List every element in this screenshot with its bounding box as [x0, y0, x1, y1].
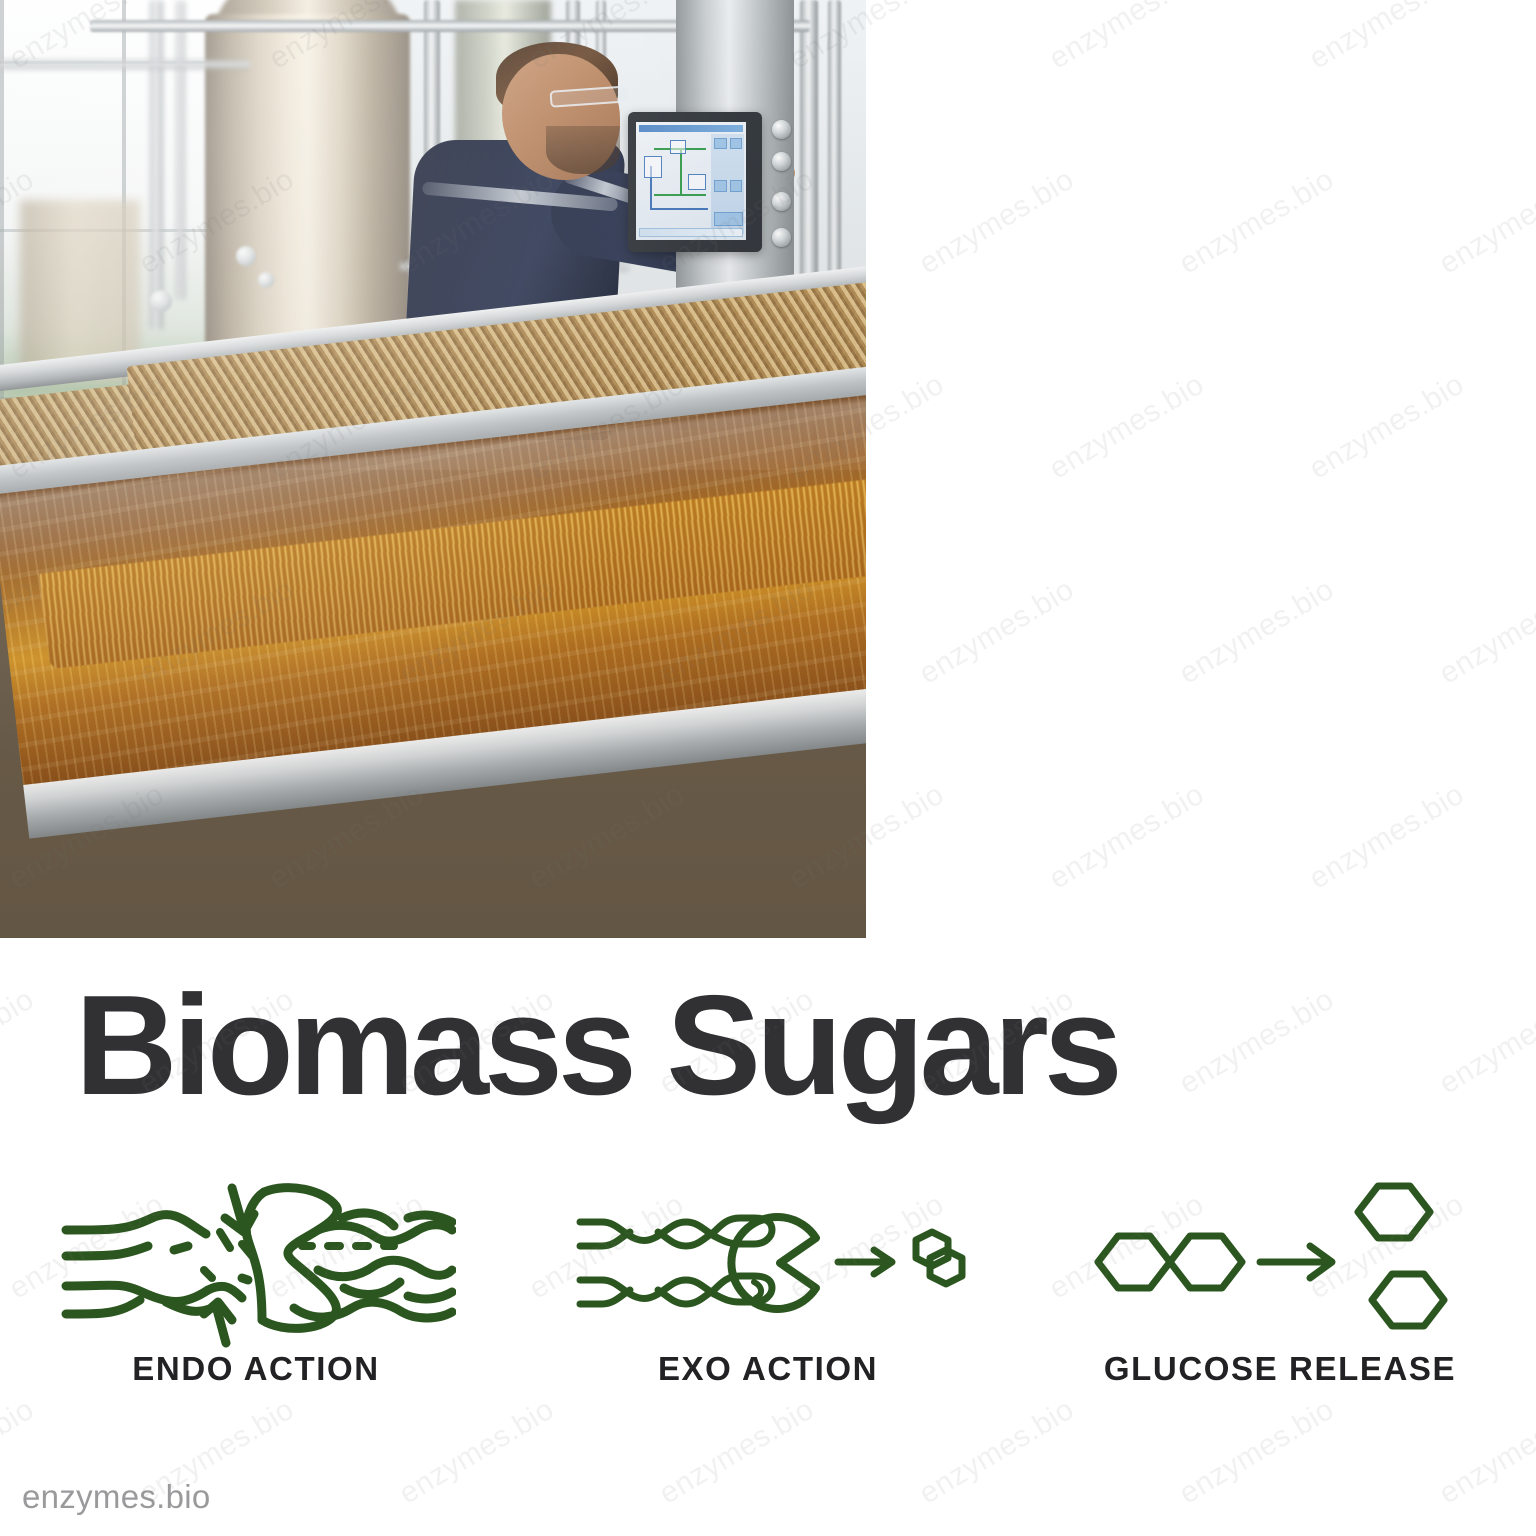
pipe-vertical-1: [150, 0, 163, 330]
watermark-tile: enzymes.bio: [914, 163, 1081, 282]
hmi-process-line-2: [680, 148, 682, 196]
beta-glucosidase-hexose-split-icon: [1080, 1175, 1480, 1350]
watermark-tile: enzymes.bio: [914, 573, 1081, 692]
panel-button-1[interactable]: [772, 120, 791, 139]
exoglucanase-chain-end-icon: [568, 1175, 968, 1350]
page-title: Biomass Sugars: [75, 975, 1118, 1117]
process-steps-row: ENDO ACTION: [0, 1175, 1536, 1405]
hmi-tile-4[interactable]: [730, 180, 742, 192]
watermark-tile: enzymes.bio: [1174, 163, 1341, 282]
process-step-endo-label: ENDO ACTION: [132, 1350, 379, 1388]
hmi-tile-3[interactable]: [714, 180, 727, 192]
hmi-tile-5[interactable]: [714, 212, 743, 226]
hmi-tile-2[interactable]: [730, 138, 742, 149]
watermark-tile: enzymes.bio: [1174, 1393, 1341, 1512]
process-step-glucose-label: GLUCOSE RELEASE: [1104, 1350, 1456, 1388]
panel-button-2[interactable]: [772, 152, 791, 171]
process-step-exo-label: EXO ACTION: [658, 1350, 878, 1388]
process-step-exo: EXO ACTION: [512, 1175, 1024, 1405]
watermark-tile: enzymes.bio: [1174, 983, 1341, 1102]
watermark-tile: enzymes.bio: [1044, 778, 1211, 897]
hmi-tile-1[interactable]: [714, 138, 727, 149]
hmi-unit-box-2: [670, 140, 686, 154]
watermark-tile: enzymes.bio: [914, 1393, 1081, 1512]
process-step-glucose: GLUCOSE RELEASE: [1024, 1175, 1536, 1405]
hmi-process-line-5: [650, 208, 708, 210]
hmi-unit-box-1: [644, 156, 662, 178]
watermark-tile: enzymes.bio: [1304, 778, 1471, 897]
watermark-tile: enzymes.bio: [1434, 163, 1536, 282]
hmi-unit-box-3: [688, 174, 706, 190]
pipe-vertical-2: [176, 0, 185, 300]
watermark-tile: enzymes.bio: [1044, 368, 1211, 487]
watermark-tile: enzymes.bio: [1304, 368, 1471, 487]
watermark-tile: enzymes.bio: [1304, 0, 1471, 76]
watermark-tile: enzymes.bio: [1434, 983, 1536, 1102]
hmi-title-bar: [639, 125, 743, 132]
endoglucanase-random-cut-icon: [56, 1175, 456, 1350]
watermark-tile: enzymes.bio: [1174, 573, 1341, 692]
process-step-endo: ENDO ACTION: [0, 1175, 512, 1405]
valve-1: [236, 246, 256, 266]
watermark-tile: enzymes.bio: [1044, 0, 1211, 76]
watermark-tile: enzymes.bio: [0, 983, 40, 1102]
brand-watermark-text: enzymes.bio: [22, 1478, 211, 1516]
operator-beard: [546, 126, 620, 174]
pipe-horizontal-2: [0, 60, 250, 69]
photo-scene: [0, 0, 866, 938]
hmi-screen[interactable]: [636, 122, 746, 240]
conveyor-trough: [0, 209, 866, 938]
watermark-tile: enzymes.bio: [654, 1393, 821, 1512]
watermark-tile: enzymes.bio: [1434, 1393, 1536, 1512]
panel-button-3[interactable]: [772, 192, 791, 211]
hmi-process-line-3: [654, 194, 706, 196]
watermark-tile: enzymes.bio: [1434, 573, 1536, 692]
watermark-tile: enzymes.bio: [394, 1393, 561, 1512]
hero-photo: [0, 0, 866, 938]
